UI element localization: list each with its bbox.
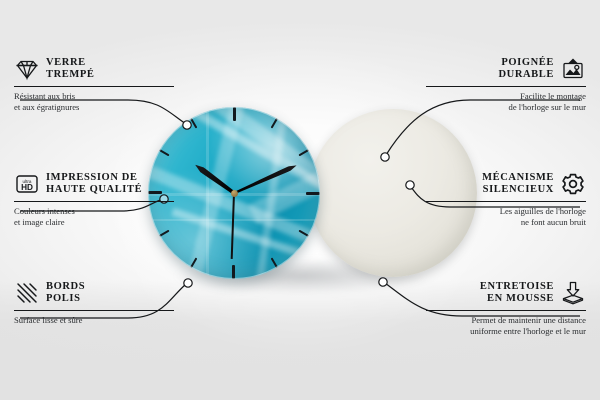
product-feature-diagram: VERRE TREMPÉ Résistant aux bris et aux é…	[0, 0, 600, 400]
diamond-icon	[14, 56, 40, 82]
callout-title-line2: SILENCIEUX	[483, 184, 554, 195]
callout-title-line1: BORDS	[46, 281, 85, 292]
foam-spacer-icon	[560, 280, 586, 306]
callout-title-line1: ENTRETOISE	[480, 281, 554, 292]
callout-sub-line1: Résistant aux bris	[14, 91, 75, 101]
callout-sub-line2: et aux égratignures	[14, 102, 79, 112]
callout-sub-line1: Les aiguilles de l'horloge	[500, 206, 586, 216]
callout-rule	[426, 86, 586, 87]
callout-title-line1: MÉCANISME	[482, 172, 554, 183]
svg-text:HD: HD	[21, 183, 33, 192]
callout-sub-line2: uniforme entre l'horloge et le mur	[470, 326, 586, 336]
callout-sub-line2: et image claire	[14, 217, 65, 227]
polished-edge-icon	[14, 280, 40, 306]
callout-rule	[426, 310, 586, 311]
ultra-hd-icon: ultra HD	[14, 171, 40, 197]
callout-sub-line1: Permet de maintenir une distance	[471, 315, 586, 325]
callout-rule	[14, 201, 174, 202]
callout-entretoise-en-mousse[interactable]: ENTRETOISE EN MOUSSE Permet de maintenir…	[426, 280, 586, 336]
callout-sub-line1: Surface lisse et sûre	[14, 315, 83, 325]
callout-verre-trempe[interactable]: VERRE TREMPÉ Résistant aux bris et aux é…	[14, 56, 174, 112]
callout-title-line1: POIGNÉE	[501, 57, 554, 68]
callout-title-line2: DURABLE	[498, 69, 554, 80]
callout-sub-line2: de l'horloge sur le mur	[509, 102, 586, 112]
callout-rule	[426, 201, 586, 202]
callout-sub-line1: Couleurs intenses	[14, 206, 75, 216]
callout-title-line2: POLIS	[46, 293, 81, 304]
callout-title-line1: IMPRESSION DE	[46, 172, 138, 183]
callout-rule	[14, 86, 174, 87]
hanging-picture-icon	[560, 56, 586, 82]
callout-poignee-durable[interactable]: POIGNÉE DURABLE Facilite le montage de l…	[426, 56, 586, 112]
callout-title-line2: EN MOUSSE	[487, 293, 554, 304]
callout-mecanisme-silencieux[interactable]: MÉCANISME SILENCIEUX Les aiguilles de l'…	[426, 171, 586, 227]
callout-bords-polis[interactable]: BORDS POLIS Surface lisse et sûre	[14, 280, 174, 326]
callout-sub-line1: Facilite le montage	[520, 91, 586, 101]
callout-impression-haute-qualite[interactable]: ultra HD IMPRESSION DE HAUTE QUALITÉ Cou…	[14, 171, 174, 227]
gear-icon	[560, 171, 586, 197]
callout-rule	[14, 310, 174, 311]
callout-sub-line2: ne font aucun bruit	[521, 217, 586, 227]
callout-title-line2: TREMPÉ	[46, 69, 95, 80]
callout-title-line1: VERRE	[46, 57, 86, 68]
callout-title-line2: HAUTE QUALITÉ	[46, 184, 142, 195]
